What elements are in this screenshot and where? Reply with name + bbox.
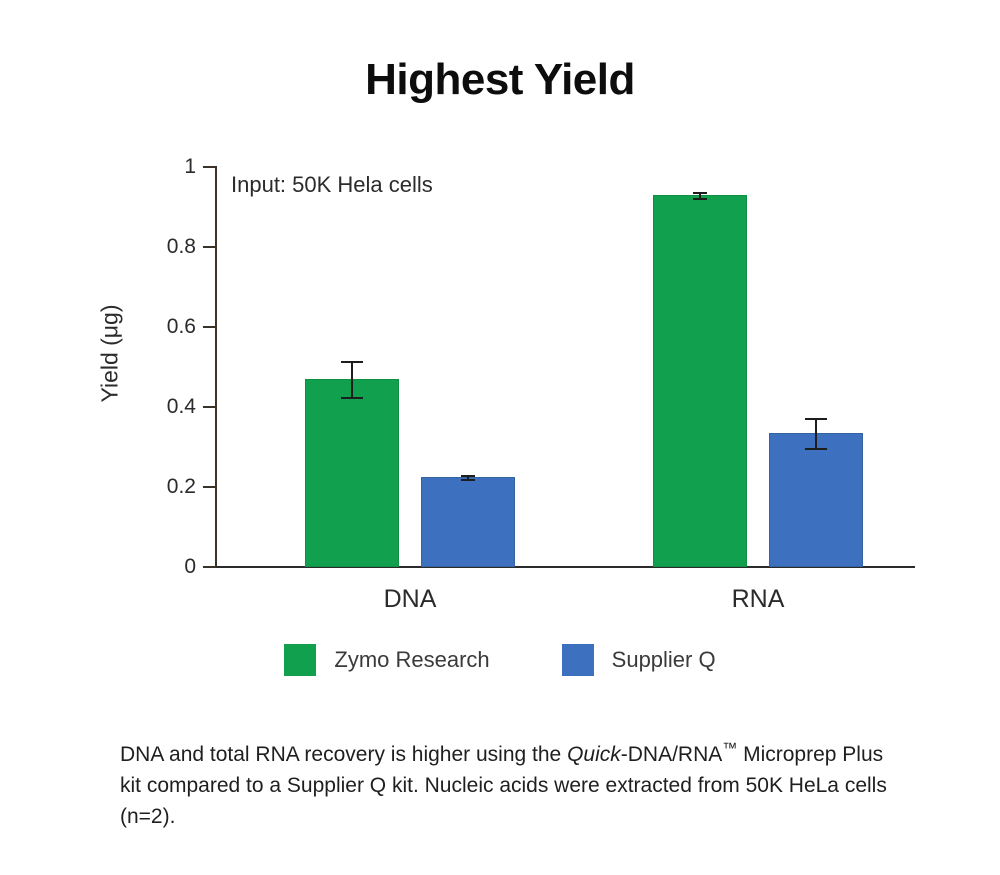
figure-caption: DNA and total RNA recovery is higher usi… [120, 733, 890, 832]
error-bar-cap-lower [341, 397, 363, 399]
y-axis-title: Yield (μg) [97, 234, 124, 474]
y-tick-label: 0 [154, 556, 196, 577]
caption-part-1: DNA and total RNA recovery is higher usi… [120, 743, 567, 766]
y-tick-mark [203, 406, 216, 408]
caption-part-2: -DNA/RNA [621, 743, 723, 766]
y-tick-label-wrap: 1 [148, 156, 196, 177]
y-tick-label-wrap: 0.6 [148, 316, 196, 337]
y-tick-label: 0.6 [154, 316, 196, 337]
legend-swatch-icon [562, 644, 594, 676]
caption-product-name: Quick [567, 743, 621, 766]
error-bar-stem [815, 418, 817, 448]
y-tick-label-wrap: 0.8 [148, 236, 196, 257]
legend-label: Zymo Research [334, 649, 489, 671]
legend-swatch-icon [284, 644, 316, 676]
y-tick-label: 0.2 [154, 476, 196, 497]
error-bar-cap-lower [461, 479, 475, 481]
y-tick-mark [203, 246, 216, 248]
bar-rna-zymo-research[interactable] [653, 195, 747, 567]
chart-page: Highest Yield Yield (μg) 00.20.40.60.81 … [0, 0, 1000, 875]
legend-item-supplier-q[interactable]: Supplier Q [562, 644, 716, 676]
bar-rna-supplier-q[interactable] [769, 433, 863, 567]
error-bar-cap-upper [341, 361, 363, 363]
error-bar-cap-lower [805, 448, 827, 450]
error-bar-cap-upper [461, 475, 475, 477]
error-bar-cap-lower [693, 198, 708, 200]
y-tick-label: 0.4 [154, 396, 196, 417]
bar-chart: Yield (μg) 00.20.40.60.81 Input: 50K Hel… [0, 0, 1000, 640]
x-axis-label-rna: RNA [658, 585, 858, 614]
trademark-symbol: ™ [722, 740, 737, 757]
y-tick-mark [203, 486, 216, 488]
error-bar-cap-upper [693, 192, 708, 194]
y-axis-line [215, 166, 217, 568]
legend-label: Supplier Q [612, 649, 716, 671]
y-tick-label: 1 [154, 156, 196, 177]
y-tick-mark [203, 566, 216, 568]
error-bar-cap-upper [805, 418, 827, 420]
legend-item-zymo-research[interactable]: Zymo Research [284, 644, 489, 676]
y-tick-label-wrap: 0.4 [148, 396, 196, 417]
chart-annotation: Input: 50K Hela cells [231, 172, 433, 198]
y-tick-label-wrap: 0 [148, 556, 196, 577]
bar-dna-supplier-q[interactable] [421, 477, 515, 567]
error-bar-stem [351, 361, 353, 397]
y-tick-mark [203, 326, 216, 328]
x-axis-label-dna: DNA [310, 585, 510, 614]
chart-legend: Zymo ResearchSupplier Q [0, 644, 1000, 676]
y-tick-label-wrap: 0.2 [148, 476, 196, 497]
y-tick-label: 0.8 [154, 236, 196, 257]
bar-dna-zymo-research[interactable] [305, 379, 399, 567]
y-tick-mark [203, 166, 216, 168]
